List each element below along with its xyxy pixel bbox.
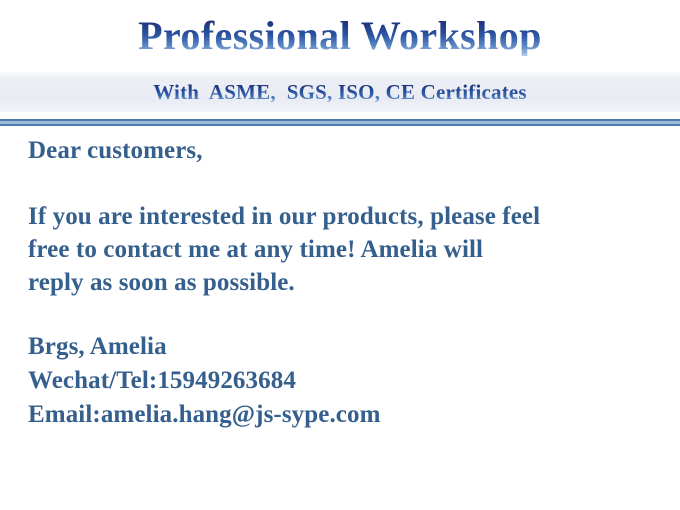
paragraph-line-1: If you are interested in our products, p… xyxy=(28,200,654,233)
page-subtitle: With ASME, SGS, ISO, CE Certificates xyxy=(153,82,527,103)
divider-rule-bottom xyxy=(0,124,680,126)
page-title: Professional Workshop xyxy=(138,16,542,56)
signature-email: Email:amelia.hang@js-sype.com xyxy=(28,398,654,432)
signature-closing: Brgs, Amelia xyxy=(28,330,654,364)
header-gap xyxy=(0,112,680,119)
paragraph-line-2: free to contact me at any time! Amelia w… xyxy=(28,233,654,266)
paragraph-line-3: reply as soon as possible. xyxy=(28,266,654,299)
spacer-after-salutation xyxy=(28,167,654,200)
signature-block: Brgs, Amelia Wechat/Tel:15949263684 Emai… xyxy=(28,330,654,432)
salutation-text: Dear customers, xyxy=(28,134,654,167)
signature-phone: Wechat/Tel:15949263684 xyxy=(28,364,654,398)
slide-body: Dear customers, If you are interested in… xyxy=(0,134,680,432)
slide-header: Professional Workshop With ASME, SGS, IS… xyxy=(0,0,680,126)
message-paragraph: If you are interested in our products, p… xyxy=(28,200,654,299)
header-divider xyxy=(0,119,680,126)
slide-canvas: Professional Workshop With ASME, SGS, IS… xyxy=(0,0,680,510)
subtitle-band: With ASME, SGS, ISO, CE Certificates xyxy=(0,72,680,112)
title-zone: Professional Workshop xyxy=(0,0,680,72)
spacer-before-signature xyxy=(28,299,654,330)
